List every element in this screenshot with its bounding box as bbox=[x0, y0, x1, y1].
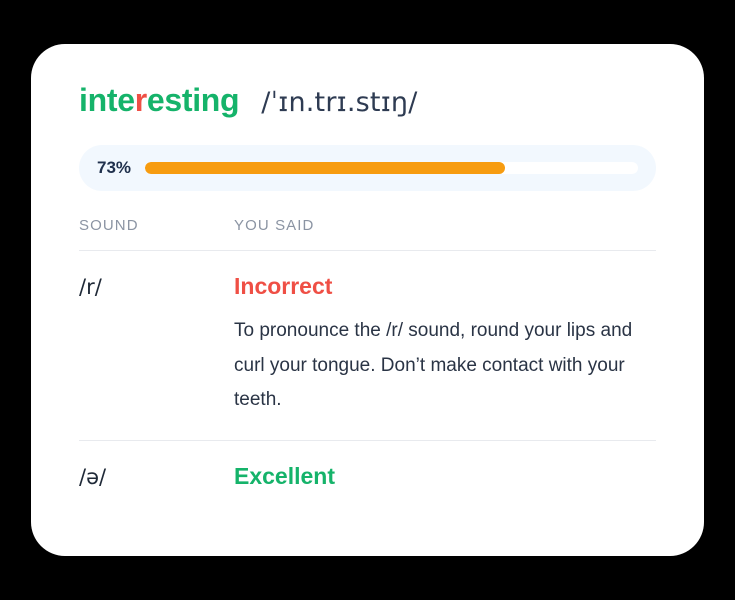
column-header-sound: SOUND bbox=[79, 217, 234, 234]
word-segment-1: inte bbox=[79, 82, 135, 118]
verdict-label: Incorrect bbox=[234, 273, 656, 300]
word-segment-2: r bbox=[135, 82, 147, 118]
feedback-cell: Incorrect To pronounce the /r/ sound, ro… bbox=[234, 273, 656, 418]
feedback-cell: Excellent bbox=[234, 463, 656, 490]
screen: interesting /ˈɪn.trɪ.stɪŋ/ 73% SOUND YOU… bbox=[0, 0, 735, 600]
pronunciation-feedback-card: interesting /ˈɪn.trɪ.stɪŋ/ 73% SOUND YOU… bbox=[31, 44, 704, 556]
score-percent-label: 73% bbox=[97, 158, 145, 178]
sound-symbol: /r/ bbox=[79, 273, 234, 418]
sound-symbol: /ə/ bbox=[79, 463, 234, 490]
phonetic-transcription: /ˈɪn.trɪ.stɪŋ/ bbox=[261, 87, 417, 118]
verdict-label: Excellent bbox=[234, 463, 656, 490]
word-heading: interesting bbox=[79, 82, 239, 119]
table-header-row: SOUND YOU SAID bbox=[79, 217, 656, 251]
column-header-you-said: YOU SAID bbox=[234, 217, 656, 234]
pronunciation-tip: To pronounce the /r/ sound, round your l… bbox=[234, 314, 656, 418]
table-row[interactable]: /ə/ Excellent bbox=[79, 441, 656, 512]
headword-row: interesting /ˈɪn.trɪ.stɪŋ/ bbox=[79, 44, 656, 119]
progress-track bbox=[145, 162, 638, 174]
progress-fill bbox=[145, 162, 505, 174]
table-row[interactable]: /r/ Incorrect To pronounce the /r/ sound… bbox=[79, 251, 656, 441]
sounds-table: SOUND YOU SAID /r/ Incorrect To pronounc… bbox=[79, 217, 656, 512]
score-progress-bar: 73% bbox=[79, 145, 656, 191]
word-segment-3: esting bbox=[147, 82, 239, 118]
